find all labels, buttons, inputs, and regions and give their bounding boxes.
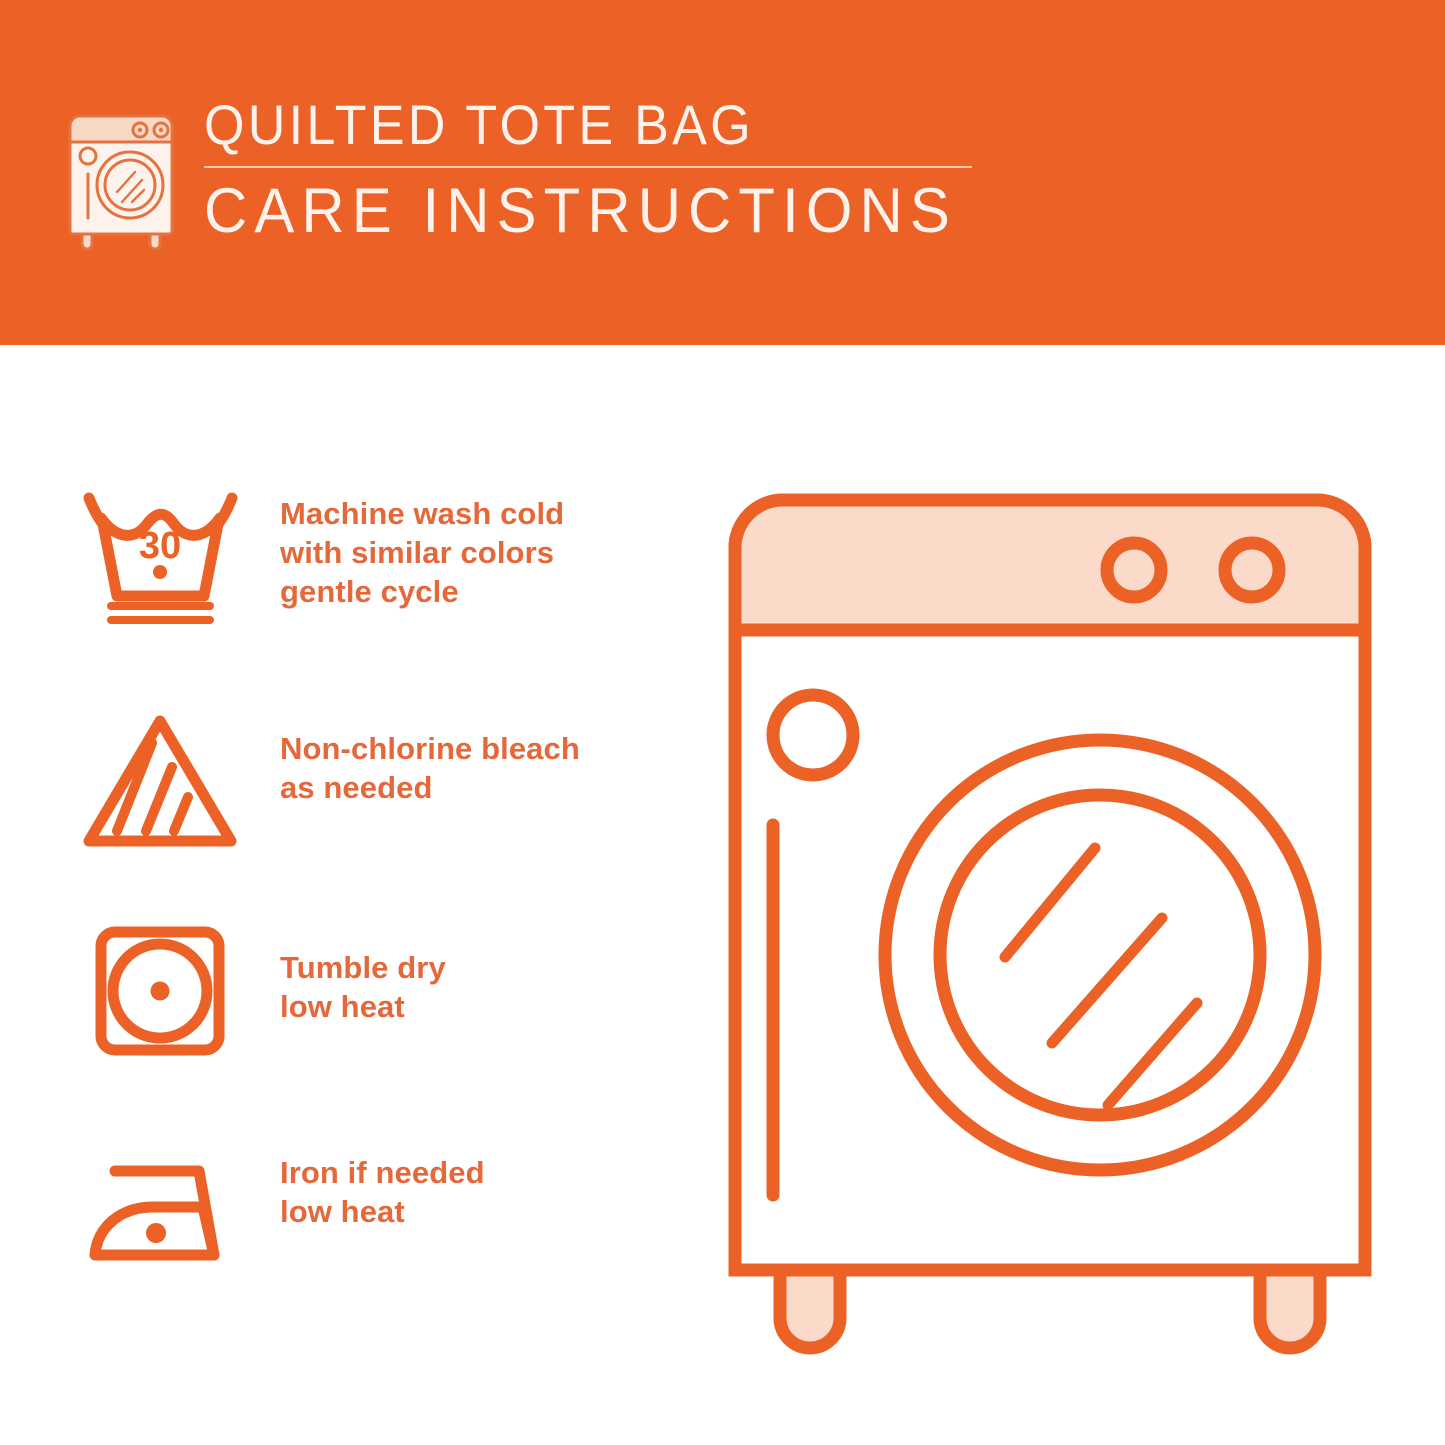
knob-right bbox=[1225, 543, 1279, 597]
washing-machine-illustration bbox=[700, 470, 1400, 1390]
machine-wash-symbol: 30 bbox=[60, 480, 260, 630]
care-text-line: Machine wash cold bbox=[280, 494, 700, 533]
care-row: Tumble dry low heat bbox=[60, 910, 700, 1125]
non-chlorine-bleach-symbol bbox=[60, 695, 260, 857]
care-instructions-page: QUILTED TOTE BAG CARE INSTRUCTIONS 30 bbox=[0, 0, 1445, 1445]
iron-low-heat-symbol bbox=[60, 1125, 260, 1295]
care-text-line: low heat bbox=[280, 1192, 700, 1231]
care-row: 30 Machine wash cold with similar colors… bbox=[60, 480, 700, 695]
title-divider bbox=[204, 166, 972, 168]
care-row: Non-chlorine bleach as needed bbox=[60, 695, 700, 910]
care-row-text: Non-chlorine bleach as needed bbox=[260, 695, 700, 807]
care-text-line: with similar colors bbox=[280, 533, 700, 572]
foot-left bbox=[780, 1270, 840, 1348]
care-row-text: Iron if needed low heat bbox=[260, 1125, 700, 1231]
care-instruction-list: 30 Machine wash cold with similar colors… bbox=[60, 480, 700, 1340]
care-text-line: Tumble dry bbox=[280, 948, 700, 987]
care-text-line: Non-chlorine bleach bbox=[280, 729, 700, 768]
care-row: Iron if needed low heat bbox=[60, 1125, 700, 1340]
care-text-line: Iron if needed bbox=[280, 1153, 700, 1192]
header-titles: QUILTED TOTE BAG CARE INSTRUCTIONS bbox=[204, 92, 997, 244]
page-subtitle: CARE INSTRUCTIONS bbox=[204, 178, 957, 244]
care-text-line: low heat bbox=[280, 987, 700, 1026]
header-content: QUILTED TOTE BAG CARE INSTRUCTIONS bbox=[62, 92, 997, 252]
care-row-text: Machine wash cold with similar colors ge… bbox=[260, 480, 700, 611]
care-text-line: gentle cycle bbox=[280, 572, 700, 611]
page-title: QUILTED TOTE BAG bbox=[204, 96, 941, 154]
care-row-text: Tumble dry low heat bbox=[260, 910, 700, 1026]
tumble-dry-low-symbol bbox=[60, 910, 260, 1066]
washing-machine-icon bbox=[62, 92, 180, 252]
care-text-line: as needed bbox=[280, 768, 700, 807]
foot-right bbox=[1260, 1270, 1320, 1348]
wash-temperature-label: 30 bbox=[138, 525, 180, 567]
knob-left bbox=[1107, 543, 1161, 597]
header-banner: QUILTED TOTE BAG CARE INSTRUCTIONS bbox=[0, 0, 1445, 345]
